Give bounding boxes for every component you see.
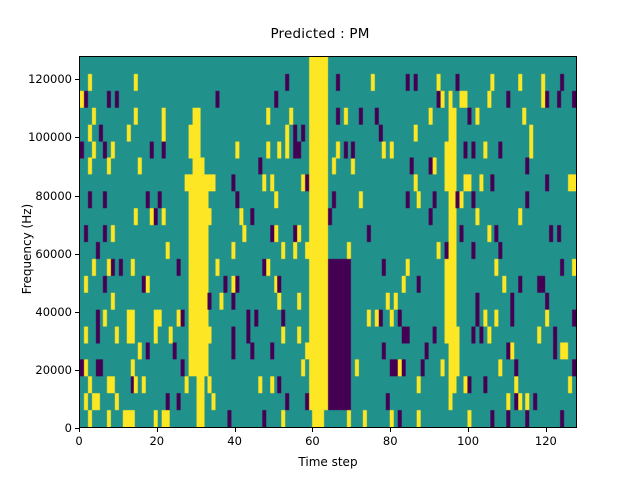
x-tick-mark (546, 428, 547, 432)
y-tick-mark (75, 254, 79, 255)
y-tick-mark (75, 312, 79, 313)
y-tick-label: 120000 (6, 72, 72, 86)
x-tick-label: 80 (360, 434, 420, 448)
x-tick-mark (157, 428, 158, 432)
x-tick-mark (235, 428, 236, 432)
x-axis-label: Time step (79, 455, 577, 469)
x-tick-mark (468, 428, 469, 432)
x-tick-mark (79, 428, 80, 432)
x-tick-label-group: 020406080100120 (79, 434, 577, 452)
y-tick-label: 0 (6, 421, 72, 435)
x-tick-label: 40 (205, 434, 265, 448)
y-tick-label: 100000 (6, 130, 72, 144)
page-title: Predicted : PM (0, 26, 640, 42)
y-tick-label-group: 020000400006000080000100000120000 (0, 56, 72, 428)
y-tick-label: 80000 (6, 189, 72, 203)
x-tick-label: 100 (438, 434, 498, 448)
x-tick-mark (312, 428, 313, 432)
y-tick-label: 40000 (6, 305, 72, 319)
heatmap-axes[interactable] (79, 56, 577, 428)
y-tick-label: 60000 (6, 247, 72, 261)
y-tick-mark (75, 370, 79, 371)
x-tick-label: 20 (127, 434, 187, 448)
figure-canvas: Predicted : PM Frequency (Hz) 0200004000… (0, 0, 640, 480)
heatmap-canvas[interactable] (80, 57, 576, 427)
y-tick-mark (75, 196, 79, 197)
x-tick-label: 120 (516, 434, 576, 448)
x-tick-mark (390, 428, 391, 432)
x-tick-label: 0 (49, 434, 109, 448)
y-tick-mark (75, 79, 79, 80)
y-tick-label: 20000 (6, 363, 72, 377)
x-tick-label: 60 (282, 434, 342, 448)
y-tick-mark (75, 137, 79, 138)
